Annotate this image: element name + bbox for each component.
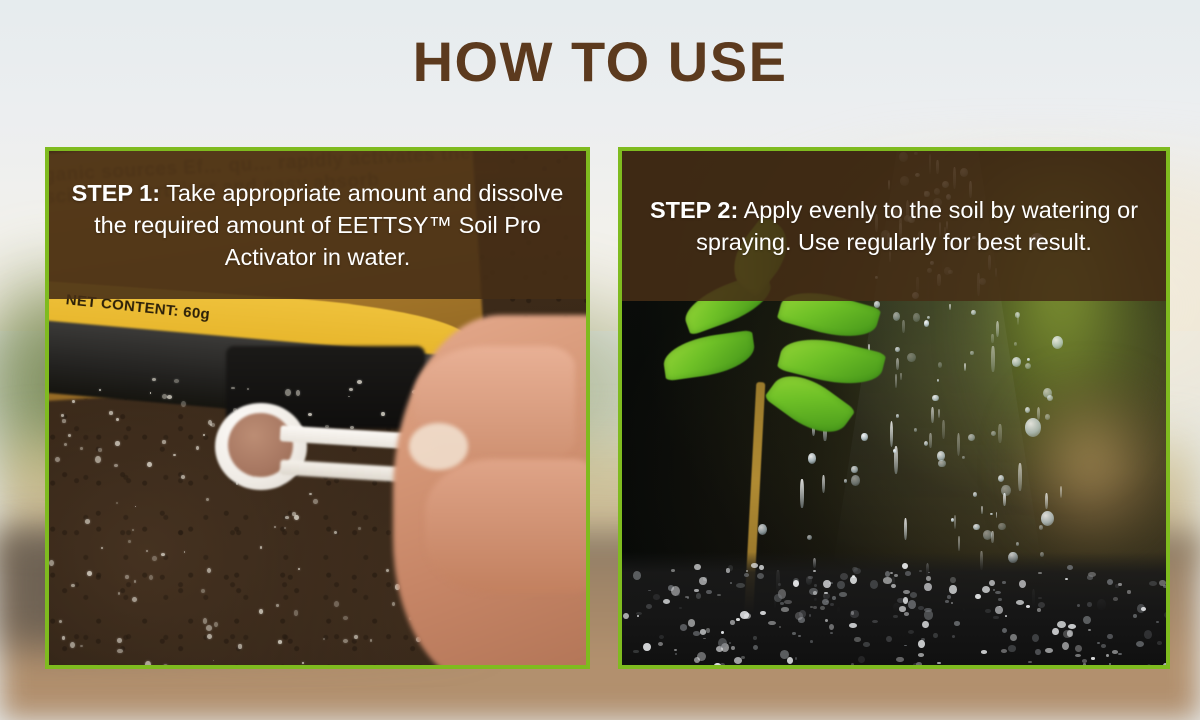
gravel-speck xyxy=(849,623,857,628)
soil-speck xyxy=(117,649,123,654)
soil-speck xyxy=(207,568,211,573)
finger-middle xyxy=(425,459,586,593)
gravel-speck xyxy=(753,645,758,650)
gravel-speck xyxy=(1088,629,1091,631)
gravel-speck xyxy=(904,645,907,646)
gravel-speck xyxy=(1019,580,1026,588)
soil-speck xyxy=(213,660,215,661)
soil-speck xyxy=(167,395,172,399)
water-drop xyxy=(937,379,940,382)
water-drop xyxy=(968,434,975,441)
water-streak xyxy=(991,346,995,372)
gravel-speck xyxy=(950,577,956,584)
soil-speck xyxy=(125,575,128,579)
soil-speck xyxy=(238,644,241,648)
gravel-speck xyxy=(949,585,956,594)
water-drop-large xyxy=(1025,418,1041,436)
soil-speck xyxy=(214,622,219,627)
soil-speck xyxy=(98,448,102,451)
gravel-speck xyxy=(687,597,689,599)
gravel-speck xyxy=(768,621,776,626)
gravel-speck xyxy=(830,632,833,634)
soil-speck xyxy=(349,388,353,392)
gravel-speck xyxy=(822,599,828,605)
soil-speck xyxy=(285,389,291,396)
gravel-speck xyxy=(814,584,817,588)
soil-speck xyxy=(132,529,134,531)
gravel-speck xyxy=(753,636,757,640)
gravel-speck xyxy=(736,618,740,621)
gravel-speck xyxy=(808,576,813,579)
bokeh-tan xyxy=(1014,377,1166,552)
gravel-speck xyxy=(674,649,677,651)
gravel-speck xyxy=(1156,621,1159,623)
step-2-text: Apply evenly to the soil by watering or … xyxy=(696,197,1138,255)
gravel-speck xyxy=(1107,579,1114,585)
soil-speck xyxy=(181,401,186,408)
water-streak xyxy=(942,420,945,439)
gravel-speck xyxy=(853,568,861,574)
water-drop xyxy=(973,492,977,497)
gravel-speck xyxy=(694,589,699,593)
gravel-speck xyxy=(1115,584,1119,588)
gravel-speck xyxy=(730,582,732,584)
gravel-speck xyxy=(830,603,834,606)
gravel-speck xyxy=(1113,597,1118,601)
water-drop xyxy=(808,453,816,464)
soil-speck xyxy=(354,635,358,640)
gravel-speck xyxy=(1083,663,1086,665)
soil-speck xyxy=(207,634,212,639)
gravel-speck xyxy=(902,563,908,569)
gravel-speck xyxy=(676,593,680,597)
soil-speck xyxy=(145,661,150,665)
gravel-speck xyxy=(825,619,828,622)
soil-speck xyxy=(117,638,122,643)
gravel-speck xyxy=(1127,590,1131,594)
gravel-speck xyxy=(781,607,789,611)
gravel-speck xyxy=(952,635,955,638)
gravel-speck xyxy=(1002,628,1008,634)
gravel-speck xyxy=(1077,604,1081,608)
step-1-caption-band: STEP 1: Take appropriate amount and diss… xyxy=(49,151,586,299)
gravel-speck xyxy=(675,653,678,656)
gravel-speck xyxy=(883,577,892,583)
soil-speck xyxy=(85,519,90,524)
gravel-speck xyxy=(706,590,711,595)
soil-speck xyxy=(68,434,71,436)
water-streak xyxy=(902,320,905,333)
gravel-speck xyxy=(863,642,869,647)
soil-speck xyxy=(323,638,325,640)
gravel-speck xyxy=(922,621,929,628)
gravel-speck xyxy=(1133,614,1137,618)
gravel-speck xyxy=(1002,581,1005,584)
gravel-speck xyxy=(982,586,991,594)
soil-speck xyxy=(149,575,153,580)
gravel-speck xyxy=(633,571,641,580)
water-streak xyxy=(996,321,999,337)
gravel-speck xyxy=(1157,641,1162,645)
fingernail xyxy=(409,423,468,469)
soil-speck xyxy=(70,642,75,648)
soil-speck xyxy=(206,498,209,501)
gravel-speck xyxy=(903,597,909,603)
step-1-caption: STEP 1: Take appropriate amount and diss… xyxy=(49,177,586,274)
gravel-speck xyxy=(989,580,995,586)
soil-speck xyxy=(302,662,304,663)
gravel-speck xyxy=(1038,597,1042,599)
gravel-speck xyxy=(954,621,960,625)
water-drop-large xyxy=(1052,336,1063,349)
water-streak xyxy=(931,407,934,423)
soil-speck xyxy=(308,413,312,416)
gravel-speck xyxy=(899,606,906,612)
water-drop xyxy=(970,351,973,355)
water-drop xyxy=(1001,485,1010,496)
soil-speck xyxy=(357,380,362,384)
water-drop xyxy=(844,479,847,482)
gravel-speck xyxy=(854,637,860,642)
gravel-speck xyxy=(736,583,745,588)
gravel-speck xyxy=(1083,616,1091,624)
gravel-speck xyxy=(919,570,921,572)
gravel-speck xyxy=(1087,602,1093,607)
water-drop xyxy=(913,313,919,321)
gravel-speck xyxy=(759,565,763,570)
gravel-speck xyxy=(926,576,931,581)
gravel-speck xyxy=(1106,654,1109,657)
gravel-speck xyxy=(945,600,949,603)
soil-speck xyxy=(161,553,165,556)
water-streak xyxy=(938,409,940,418)
gravel-speck xyxy=(839,592,848,597)
gravel-speck xyxy=(850,576,857,584)
gravel-speck xyxy=(751,563,758,568)
gravel-speck xyxy=(648,590,651,592)
water-drop xyxy=(1012,357,1021,366)
soil-speck xyxy=(343,616,349,620)
gravel-speck xyxy=(1005,615,1007,617)
gravel-speck xyxy=(1062,642,1069,650)
gravel-speck xyxy=(1035,649,1040,655)
soil-gravel-right xyxy=(622,552,1166,665)
gravel-speck xyxy=(810,606,813,608)
water-drop xyxy=(998,475,1005,482)
gravel-speck xyxy=(795,657,798,660)
step-2-label: STEP 2: xyxy=(650,197,738,223)
gravel-speck xyxy=(633,650,638,653)
step-1-card: ganic sources Ef… qu… rapidly activates … xyxy=(45,147,590,669)
soil-speck xyxy=(370,639,372,641)
gravel-speck xyxy=(1112,650,1118,654)
gravel-speck xyxy=(1087,575,1093,579)
gravel-speck xyxy=(872,620,878,623)
gravel-speck xyxy=(947,595,951,599)
gravel-speck xyxy=(1144,630,1153,639)
soil-speck xyxy=(343,639,348,643)
gravel-speck xyxy=(995,591,1001,594)
gravel-speck xyxy=(680,624,688,630)
soil-speck xyxy=(87,571,92,576)
gravel-speck xyxy=(730,620,735,624)
soil-speck xyxy=(274,526,276,528)
soil-speck xyxy=(64,443,67,446)
gravel-speck xyxy=(1038,572,1042,574)
gravel-speck xyxy=(718,638,727,648)
soil-speck xyxy=(184,551,186,553)
page-title: HOW TO USE xyxy=(0,34,1200,90)
soil-speck xyxy=(203,434,205,436)
water-streak xyxy=(800,479,804,508)
soil-speck xyxy=(285,516,289,519)
gravel-speck xyxy=(985,609,991,613)
gravel-speck xyxy=(928,572,930,573)
soil-speck xyxy=(118,592,120,595)
gravel-speck xyxy=(671,569,675,572)
soil-speck xyxy=(146,550,148,552)
gravel-speck xyxy=(731,646,735,650)
soil-speck xyxy=(147,462,151,467)
gravel-speck xyxy=(813,570,816,572)
gravel-speck xyxy=(813,606,817,610)
gravel-speck xyxy=(717,594,721,596)
gravel-speck xyxy=(894,574,898,577)
soil-speck xyxy=(135,506,137,507)
gravel-speck xyxy=(643,643,651,652)
soil-speck xyxy=(278,640,282,643)
water-streak xyxy=(958,536,960,551)
gravel-speck xyxy=(1052,628,1059,635)
water-streak xyxy=(954,515,956,530)
gravel-speck xyxy=(1026,605,1030,608)
gravel-speck xyxy=(1159,580,1166,586)
gravel-speck xyxy=(924,608,932,612)
water-drop xyxy=(861,433,868,442)
gravel-speck xyxy=(937,662,940,664)
water-drop xyxy=(1043,388,1052,399)
gravel-speck xyxy=(688,619,696,626)
gravel-speck xyxy=(933,633,938,639)
soil-speck xyxy=(49,560,54,566)
water-drop xyxy=(932,395,938,402)
gravel-speck xyxy=(890,572,893,574)
gravel-speck xyxy=(646,604,652,609)
gravel-speck xyxy=(951,602,953,604)
gravel-speck xyxy=(981,650,987,654)
gravel-speck xyxy=(728,565,733,571)
gravel-speck xyxy=(694,564,701,570)
gravel-speck xyxy=(918,640,925,648)
gravel-speck xyxy=(913,663,919,665)
soil-speck xyxy=(206,625,212,631)
soil-speck xyxy=(152,378,156,381)
soil-speck xyxy=(150,392,152,393)
gravel-speck xyxy=(774,594,782,602)
soil-speck xyxy=(260,546,262,548)
water-drop xyxy=(851,475,860,485)
soil-speck xyxy=(114,464,118,467)
soil-speck xyxy=(296,390,301,396)
gravel-speck xyxy=(1065,578,1068,580)
water-drop xyxy=(1016,542,1019,546)
soil-speck xyxy=(247,388,249,391)
gravel-speck xyxy=(1107,634,1112,639)
soil-speck xyxy=(358,527,362,530)
soil-speck xyxy=(196,446,199,450)
gravel-speck xyxy=(840,573,848,580)
water-drop xyxy=(938,460,945,466)
gravel-speck xyxy=(1163,663,1166,665)
gravel-speck xyxy=(780,602,784,605)
gravel-speck xyxy=(832,596,836,600)
water-streak xyxy=(981,506,983,514)
water-drop xyxy=(807,535,812,540)
gravel-speck xyxy=(1067,565,1073,570)
water-drop xyxy=(758,524,767,535)
gravel-speck xyxy=(851,611,854,614)
soil-speck xyxy=(173,454,175,456)
steps-container: ganic sources Ef… qu… rapidly activates … xyxy=(0,147,1200,669)
soil-speck xyxy=(128,540,131,543)
gravel-speck xyxy=(659,635,664,639)
soil-speck xyxy=(109,411,113,414)
gravel-speck xyxy=(995,606,1003,613)
gravel-speck xyxy=(1118,583,1121,586)
step-2-card: STEP 2: Apply evenly to the soil by wate… xyxy=(618,147,1170,669)
gravel-speck xyxy=(924,583,932,592)
water-streak xyxy=(949,304,951,311)
water-drop xyxy=(1025,407,1030,413)
gravel-speck xyxy=(799,610,806,617)
gravel-speck xyxy=(1141,607,1146,611)
gravel-speck xyxy=(1101,644,1106,648)
gravel-speck xyxy=(1037,608,1041,612)
gravel-speck xyxy=(663,599,670,604)
soil-speck xyxy=(276,604,279,606)
gravel-speck xyxy=(1147,664,1151,665)
gravel-speck xyxy=(1091,657,1095,659)
gravel-speck xyxy=(658,642,663,646)
gravel-speck xyxy=(905,571,912,576)
soil-speck xyxy=(72,400,75,404)
soil-speck xyxy=(210,424,212,426)
soil-speck xyxy=(386,569,389,572)
gravel-speck xyxy=(1057,621,1066,628)
gravel-speck xyxy=(637,615,640,617)
soil-speck xyxy=(132,597,137,602)
gravel-speck xyxy=(1045,648,1052,653)
step-1-text: Take appropriate amount and dissolve the… xyxy=(94,180,563,270)
gravel-speck xyxy=(792,632,796,635)
gravel-speck xyxy=(793,580,799,587)
soil-speck xyxy=(294,515,299,521)
gravel-speck xyxy=(784,600,791,604)
gravel-speck xyxy=(798,635,801,638)
gravel-speck xyxy=(1016,600,1024,605)
gravel-speck xyxy=(729,642,731,644)
gravel-speck xyxy=(998,598,1001,601)
gravel-speck xyxy=(720,663,725,665)
gravel-speck xyxy=(1010,634,1017,642)
gravel-speck xyxy=(891,584,896,588)
gravel-speck xyxy=(903,590,910,594)
gravel-speck xyxy=(1136,641,1144,647)
gravel-speck xyxy=(1109,663,1111,665)
soil-speck xyxy=(62,636,65,640)
soil-speck xyxy=(259,609,263,614)
gravel-speck xyxy=(757,573,765,579)
step-1-label: STEP 1: xyxy=(72,180,160,206)
gravel-speck xyxy=(741,656,745,659)
gravel-speck xyxy=(893,615,898,618)
soil-speck xyxy=(231,387,235,390)
soil-speck xyxy=(163,664,168,665)
soil-speck xyxy=(392,602,395,606)
soil-speck xyxy=(55,457,60,462)
gravel-speck xyxy=(904,612,909,616)
water-drop xyxy=(1014,342,1017,346)
gravel-speck xyxy=(870,580,878,589)
gravel-speck xyxy=(1068,624,1076,629)
gravel-speck xyxy=(918,606,924,611)
soil-speck xyxy=(95,456,101,463)
gravel-speck xyxy=(636,612,642,615)
gravel-speck xyxy=(823,580,831,589)
gravel-speck xyxy=(1082,659,1087,663)
water-drop xyxy=(971,310,975,315)
water-drop xyxy=(924,441,928,446)
soil-speck xyxy=(294,610,299,615)
soil-speck xyxy=(334,531,337,535)
soil-speck xyxy=(162,440,166,443)
gravel-speck xyxy=(886,636,892,642)
gravel-speck xyxy=(760,611,765,615)
water-streak xyxy=(1018,463,1022,492)
gravel-speck xyxy=(679,607,682,609)
step-2-caption-band: STEP 2: Apply evenly to the soil by wate… xyxy=(622,151,1166,301)
gravel-speck xyxy=(721,631,725,634)
soil-speck xyxy=(80,447,82,450)
gravel-speck xyxy=(694,657,701,663)
step-2-caption: STEP 2: Apply evenly to the soil by wate… xyxy=(622,194,1166,258)
gravel-speck xyxy=(918,653,925,657)
gravel-speck xyxy=(703,638,706,640)
gravel-speck xyxy=(910,592,918,598)
soil-speck xyxy=(134,580,136,582)
water-drop xyxy=(893,449,896,453)
gravel-speck xyxy=(744,573,750,577)
soil-speck xyxy=(181,475,185,479)
soil-speck xyxy=(203,618,207,623)
gravel-speck xyxy=(820,606,824,610)
soil-speck xyxy=(174,379,180,383)
water-drop xyxy=(998,523,1006,530)
gravel-speck xyxy=(1067,630,1073,637)
soil-speck xyxy=(116,418,119,421)
soil-speck xyxy=(62,419,65,422)
gravel-speck xyxy=(699,577,707,586)
soil-speck xyxy=(334,601,339,607)
gravel-speck xyxy=(740,611,749,619)
gravel-speck xyxy=(975,594,980,599)
water-streak xyxy=(991,334,994,342)
gravel-speck xyxy=(809,614,812,617)
soil-speck xyxy=(309,493,312,495)
water-drop xyxy=(962,456,965,459)
soil-speck xyxy=(80,645,83,647)
soil-speck xyxy=(99,389,101,391)
